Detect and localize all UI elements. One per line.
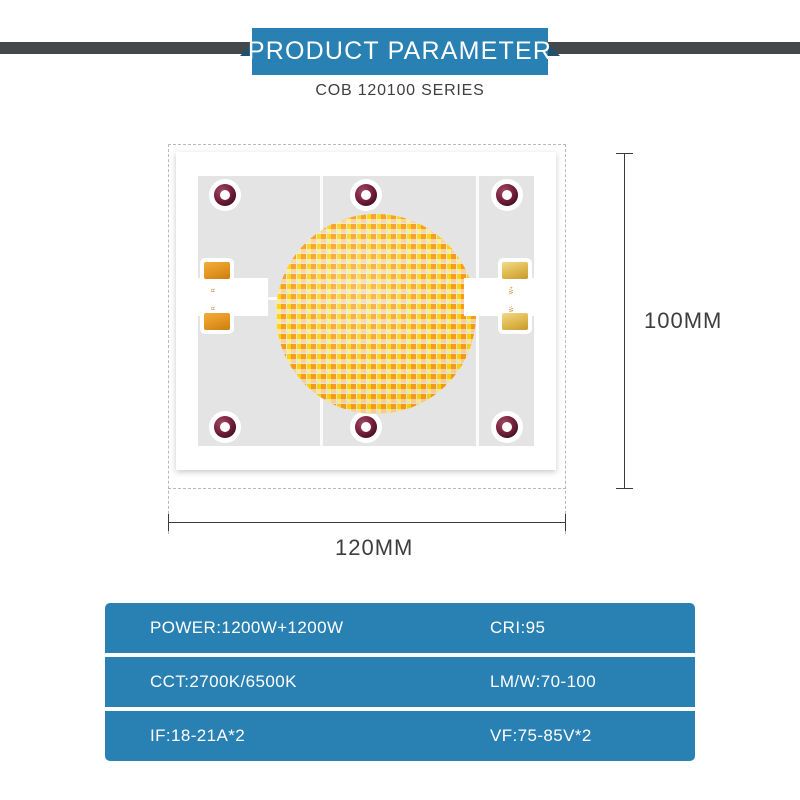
page-title: PRODUCT PARAMETER bbox=[248, 37, 552, 66]
pad-notch-right bbox=[464, 278, 534, 316]
dimension-tick-right bbox=[565, 514, 566, 531]
table-row: IF:18-21A*2 VF:75-85V*2 bbox=[105, 711, 695, 761]
parameter-table: POWER:1200W+1200W CRI:95 CCT:2700K/6500K… bbox=[105, 603, 695, 761]
dimension-line-vertical bbox=[624, 153, 625, 488]
param-if: IF:18-21A*2 bbox=[150, 726, 490, 746]
param-cri: CRI:95 bbox=[490, 618, 545, 638]
dimension-tick-bottom bbox=[616, 488, 633, 489]
mounting-hole-bottom-right bbox=[496, 416, 518, 438]
guide-line-left bbox=[168, 144, 169, 534]
dimension-tick-left bbox=[168, 514, 169, 531]
header-ribbon: PRODUCT PARAMETER COB 120100 SERIES bbox=[0, 0, 800, 120]
dimension-label-height: 100MM bbox=[644, 308, 722, 334]
mounting-hole-bottom-center bbox=[355, 416, 377, 438]
pad-label-right-bottom: W- bbox=[510, 306, 515, 312]
guide-line-right bbox=[565, 144, 566, 534]
param-power: POWER:1200W+1200W bbox=[150, 618, 490, 638]
led-gloss-overlay bbox=[276, 214, 476, 414]
param-cct: CCT:2700K/6500K bbox=[150, 672, 490, 692]
dimension-label-width: 120MM bbox=[335, 535, 413, 561]
pad-label-left-bottom: R bbox=[212, 306, 217, 310]
dimension-line-horizontal bbox=[168, 522, 566, 523]
solder-pad-right-top bbox=[502, 262, 528, 279]
guide-line-bottom bbox=[168, 488, 566, 489]
param-vf: VF:75-85V*2 bbox=[490, 726, 592, 746]
mounting-hole-top-right bbox=[496, 184, 518, 206]
ribbon-plate: PRODUCT PARAMETER bbox=[252, 28, 548, 75]
mounting-hole-bottom-left bbox=[214, 416, 236, 438]
solder-pad-left-bottom bbox=[204, 313, 230, 330]
page-subtitle: COB 120100 SERIES bbox=[0, 82, 800, 100]
solder-pad-left-top bbox=[204, 262, 230, 279]
pad-label-left-top: R bbox=[212, 288, 217, 292]
product-drawing: R R W+ W- 100MM 120MM bbox=[0, 130, 800, 570]
pad-label-right-top: W+ bbox=[510, 286, 515, 294]
led-emitter-surface bbox=[276, 214, 476, 414]
mounting-hole-top-center bbox=[355, 184, 377, 206]
mounting-hole-top-left bbox=[214, 184, 236, 206]
pad-notch-left bbox=[198, 278, 268, 316]
guide-line-top bbox=[168, 144, 566, 145]
dimension-tick-top bbox=[616, 153, 633, 154]
param-lmw: LM/W:70-100 bbox=[490, 672, 596, 692]
table-row: CCT:2700K/6500K LM/W:70-100 bbox=[105, 657, 695, 707]
cob-module-board: R R W+ W- bbox=[176, 152, 556, 470]
table-row: POWER:1200W+1200W CRI:95 bbox=[105, 603, 695, 653]
product-parameter-page: PRODUCT PARAMETER COB 120100 SERIES bbox=[0, 0, 800, 800]
solder-pad-right-bottom bbox=[502, 313, 528, 330]
